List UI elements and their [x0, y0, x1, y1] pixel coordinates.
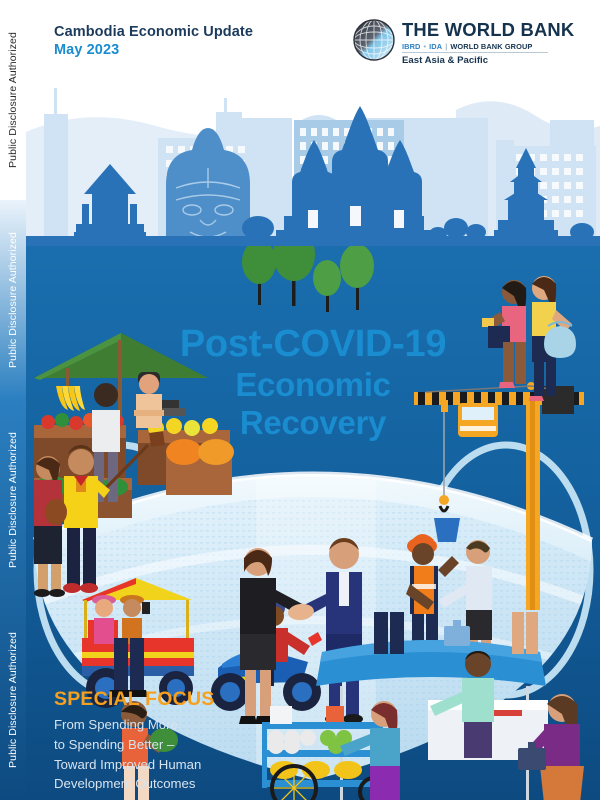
world-bank-globe-icon: [352, 18, 396, 62]
title-line-2: Economic: [26, 366, 600, 404]
cover-title: Post-COVID-19 Economic Recovery: [26, 322, 600, 443]
skyline-svg: [26, 70, 600, 246]
page-title: Cambodia Economic Update: [54, 24, 253, 40]
public-disclosure-rail: Public Disclosure Authorized Public Disc…: [0, 0, 26, 800]
world-bank-logo: THE WORLD BANK IBRD•IDA|WORLD BANK GROUP…: [352, 16, 548, 72]
logo-region: East Asia & Pacific: [402, 55, 488, 66]
report-cover: Cambodia Economic Update May 2023: [0, 0, 600, 800]
logo-dot: •: [420, 42, 429, 51]
logo-ida: IDA: [429, 42, 442, 51]
disclosure-label-4: Public Disclosure Authorized: [7, 632, 19, 768]
special-focus-line-2: to Spending Better –: [54, 735, 214, 755]
logo-group: WORLD BANK GROUP: [450, 42, 532, 51]
publication-date: May 2023: [54, 42, 119, 58]
special-focus-line-1: From Spending More: [54, 715, 214, 735]
disclosure-label-2: Public Disclosure Authorized: [7, 232, 19, 368]
logo-divider-rule: [402, 52, 548, 53]
disclosure-label-3: Public Disclosure Authorized: [7, 432, 19, 568]
logo-ibrd: IBRD: [402, 42, 420, 51]
logo-name: THE WORLD BANK: [402, 19, 574, 41]
title-line-3: Recovery: [26, 404, 600, 442]
logo-subline: IBRD•IDA|WORLD BANK GROUP: [402, 42, 532, 51]
special-focus-line-4: Development Outcomes: [54, 774, 214, 794]
special-focus-heading: SPECIAL FOCUS: [54, 688, 214, 711]
special-focus-line-3: Toward Improved Human: [54, 755, 214, 775]
cover-header: Cambodia Economic Update May 2023: [0, 0, 600, 84]
cambodia-skyline: [26, 70, 600, 246]
title-line-1: Post-COVID-19: [26, 322, 600, 366]
special-focus-block: SPECIAL FOCUS From Spending More to Spen…: [54, 688, 214, 794]
